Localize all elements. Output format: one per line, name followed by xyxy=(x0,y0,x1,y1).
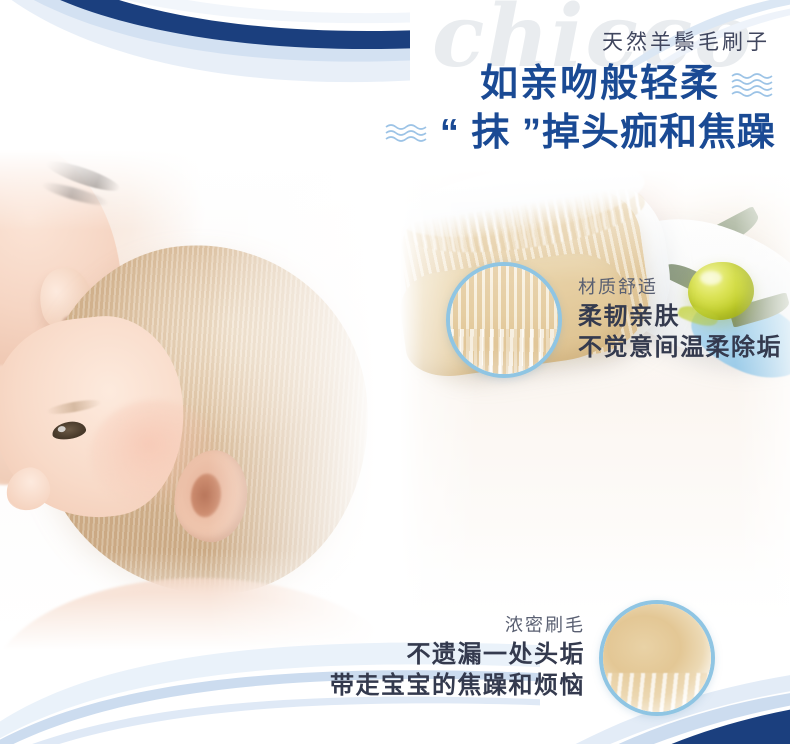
header-subtitle: 天然羊鬃毛刷子 xyxy=(256,30,776,55)
callout-line-2: 带走宝宝的焦躁和烦恼 xyxy=(330,671,585,702)
bristle-texture xyxy=(603,604,711,712)
callout-dense-bristles: 浓密刷毛 不遗漏一处头垢 带走宝宝的焦躁和烦恼 xyxy=(330,600,715,716)
wave-lines-icon xyxy=(730,71,776,97)
header-block: 天然羊鬃毛刷子 如亲吻般轻柔 “ 抹 ”掉头痂和焦躁 xyxy=(256,30,776,156)
callout-line-2: 不觉意间温柔除垢 xyxy=(578,333,782,364)
callout-eyebrow: 材质舒适 xyxy=(578,276,782,299)
callout-material-comfort: 材质舒适 柔韧亲肤 不觉意间温柔除垢 xyxy=(446,262,782,378)
callout-line-1: 不遗漏一处头垢 xyxy=(330,640,585,671)
product-photo xyxy=(400,170,790,640)
product-banner: chicco 天然羊鬃毛刷子 如亲吻般轻柔 xyxy=(0,0,790,744)
brush-bristle-closeup-icon xyxy=(446,262,562,378)
headline-row-2: “ 抹 ”掉头痂和焦躁 xyxy=(256,110,776,156)
product-edge-fade xyxy=(400,170,790,640)
bristle-texture xyxy=(450,266,558,374)
callout-text-block: 浓密刷毛 不遗漏一处头垢 带走宝宝的焦躁和烦恼 xyxy=(330,614,585,701)
callout-line-1: 柔韧亲肤 xyxy=(578,302,782,333)
headline-row-1: 如亲吻般轻柔 xyxy=(256,61,776,107)
mother-baby-photo xyxy=(0,150,400,650)
photo-edge-fade xyxy=(0,150,400,650)
headline-line-1: 如亲吻般轻柔 xyxy=(480,61,720,107)
callout-eyebrow: 浓密刷毛 xyxy=(330,614,585,637)
wave-lines-icon xyxy=(384,123,430,143)
brush-bristle-flat-closeup-icon xyxy=(599,600,715,716)
headline-line-2: “ 抹 ”掉头痂和焦躁 xyxy=(440,110,776,156)
callout-text-block: 材质舒适 柔韧亲肤 不觉意间温柔除垢 xyxy=(578,276,782,363)
